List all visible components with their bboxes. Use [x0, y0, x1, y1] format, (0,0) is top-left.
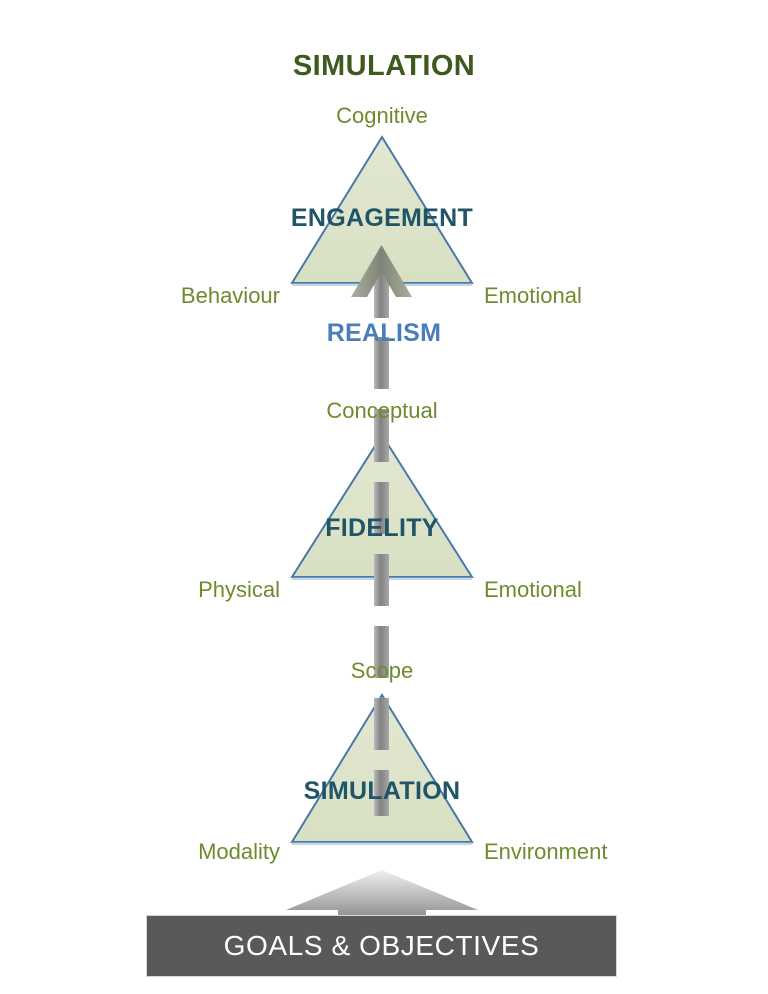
corner-label-behaviour: Behaviour [40, 283, 280, 309]
apex-label-cognitive: Cognitive [282, 103, 482, 129]
block-arrow-shape [286, 870, 478, 920]
apex-label-scope: Scope [282, 658, 482, 684]
corner-label-modality: Modality [40, 839, 280, 865]
apex-label-conceptual: Conceptual [282, 398, 482, 424]
triangle-label-fidelity: FIDELITY [288, 514, 476, 543]
goals-upward-arrow [280, 868, 488, 920]
corner-label-emotional-engagement: Emotional [484, 283, 734, 309]
triangle-label-engagement: ENGAGEMENT [288, 204, 476, 233]
triangle-label-simulation: SIMULATION [288, 777, 476, 806]
corner-label-emotional-fidelity: Emotional [484, 577, 734, 603]
corner-label-environment: Environment [484, 839, 754, 865]
foundation-bar: GOALS & OBJECTIVES [146, 915, 617, 977]
connector-label-realism: REALISM [0, 319, 768, 348]
dashed-stem [374, 270, 389, 816]
foundation-bar-label: GOALS & OBJECTIVES [224, 930, 540, 962]
diagram-canvas: SIMULATION [0, 0, 768, 994]
corner-label-physical: Physical [40, 577, 280, 603]
